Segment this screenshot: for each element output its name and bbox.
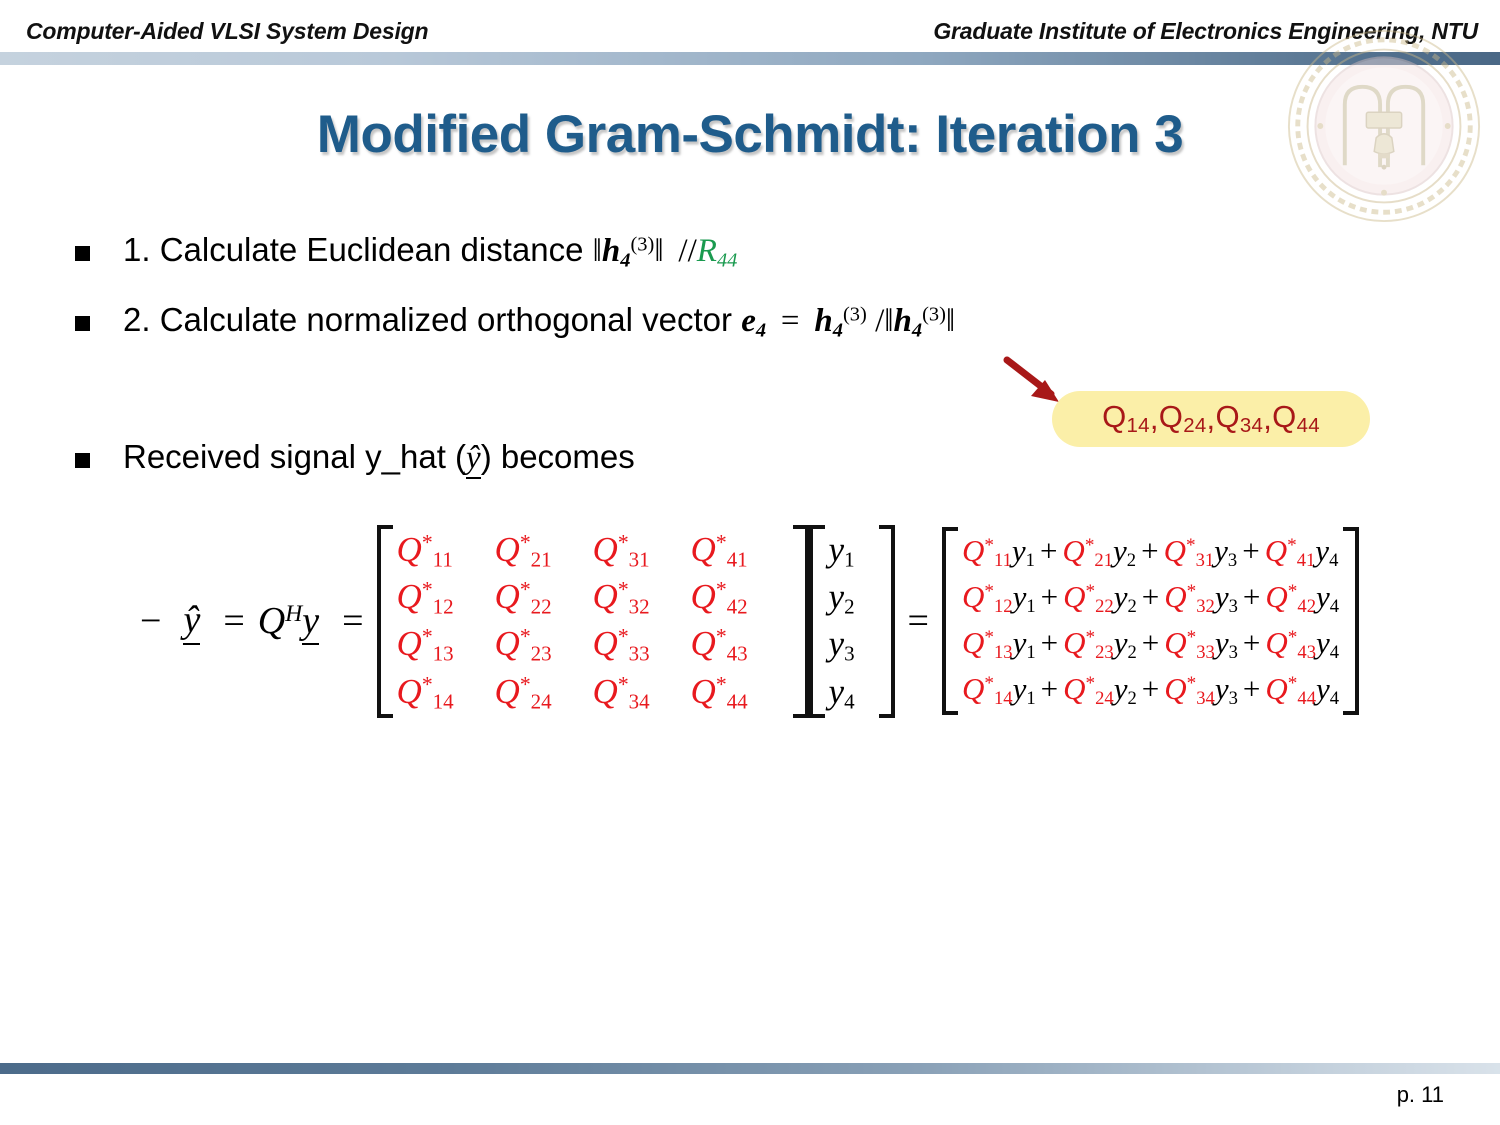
matrix-cell: Q*22 [495,574,593,621]
result-bracket-right [1343,527,1359,715]
result-cell: Q*12y1+Q*22y2+Q*32y3+Q*42y4 [962,575,1339,621]
matrix-cell: Q*33 [593,621,691,668]
matrix-cell: Q*31 [593,527,691,574]
matrix-row: Q*14 Q*24 Q*34 Q*44 [397,669,789,716]
bullet-item-2: 2. Calculate normalized orthogonal vecto… [75,303,955,342]
header-divider-bar [0,52,1500,65]
callout-sep-1: , [1150,401,1159,437]
matrix-cell: Q*42 [691,574,789,621]
vector-row: y1 [829,527,875,574]
page-title: Modified Gram-Schmidt: Iteration 3 [0,104,1500,165]
matrix-cell: Q*43 [691,621,789,668]
bullet-1-math: ‖h4(3)‖ //R44 [593,233,738,269]
square-bullet-icon [75,246,90,261]
result-column-vector: Q*11y1+Q*21y2+Q*31y3+Q*41y4 Q*12y1+Q*22y… [942,527,1359,715]
vector-row: y4 [829,669,875,716]
callout-sep-2: , [1207,401,1216,437]
callout-q14: Q14 [1102,399,1150,438]
square-bullet-icon [75,316,90,331]
callout-q-column: Q14, Q24, Q34, Q44 [1052,391,1370,447]
bullet-1-label: 1. Calculate Euclidean distance [123,231,583,268]
callout-sep-3: , [1263,401,1272,437]
bullet-item-3: Received signal y_hat (ŷ) becomes [75,440,635,476]
equation-equals-2: = [342,599,363,643]
result-row: Q*12y1+Q*22y2+Q*32y3+Q*42y4 [962,575,1339,621]
vector-cell: y3 [829,621,875,668]
callout-q44: Q44 [1272,399,1320,438]
result-cell: Q*13y1+Q*23y2+Q*33y3+Q*43y4 [962,621,1339,667]
bullet-2-label: 2. Calculate normalized orthogonal vecto… [123,301,732,338]
bullet-3-post: ) becomes [481,438,635,475]
callout-q24: Q24 [1159,399,1207,438]
matrix-cell: Q*13 [397,621,495,668]
result-bracket-left [942,527,958,715]
matrix-bracket-left [377,525,393,718]
matrix-cell: Q*12 [397,574,495,621]
matrix-row: Q*11 Q*21 Q*31 Q*41 [397,527,789,574]
matrix-cell: Q*34 [593,669,691,716]
matrix-cell: Q*23 [495,621,593,668]
matrix-cell: Q*32 [593,574,691,621]
equation-dash: − [140,599,161,643]
header-institute: Graduate Institute of Electronics Engine… [933,18,1478,45]
result-cell: Q*14y1+Q*24y2+Q*34y3+Q*44y4 [962,667,1339,713]
matrix-row: Q*12 Q*22 Q*32 Q*42 [397,574,789,621]
equation-equals-1: = [223,599,244,643]
result-cell: Q*11y1+Q*21y2+Q*31y3+Q*41y4 [962,529,1338,575]
matrix-cell: Q*44 [691,669,789,716]
vector-cell: y1 [829,527,875,574]
vector-bracket-right [879,525,895,718]
matrix-cell: Q*41 [691,527,789,574]
result-row: Q*11y1+Q*21y2+Q*31y3+Q*41y4 [962,529,1339,575]
matrix-cell: Q*14 [397,669,495,716]
header-course-title: Computer-Aided VLSI System Design [26,18,428,45]
bullet-2-math: e4 = h4(3) /‖h4(3)‖ [741,303,955,339]
result-row: Q*14y1+Q*24y2+Q*34y3+Q*44y4 [962,667,1339,713]
matrix-bracket-right [793,525,809,718]
bullet-3-text: Received signal y_hat (ŷ) becomes [123,440,635,476]
matrix-cell: Q*11 [397,527,495,574]
matrix-cell: Q*24 [495,669,593,716]
footer-divider-bar [0,1063,1500,1074]
vector-bracket-left [809,525,825,718]
matrix-equation: − ŷ = QHy = Q*11 Q*21 Q*31 Q*41 Q*12 Q*2… [140,525,1359,718]
bullet-1-text: 1. Calculate Euclidean distance ‖h4(3)‖ … [123,233,737,272]
bullet-item-1: 1. Calculate Euclidean distance ‖h4(3)‖ … [75,233,737,272]
equation-equals-3: = [908,599,929,643]
vector-cell: y4 [829,669,875,716]
bullet-2-text: 2. Calculate normalized orthogonal vecto… [123,303,955,342]
equation-qh: QHy [258,599,319,643]
q-hermitian-matrix: Q*11 Q*21 Q*31 Q*41 Q*12 Q*22 Q*32 Q*42 … [377,525,809,718]
square-bullet-icon [75,453,90,468]
vector-row: y3 [829,621,875,668]
callout-q34: Q34 [1215,399,1263,438]
matrix-cell: Q*21 [495,527,593,574]
bullet-3-yhat: ŷ [466,440,481,479]
equation-yhat: ŷ [183,598,200,645]
matrix-row: Q*13 Q*23 Q*33 Q*43 [397,621,789,668]
vector-row: y2 [829,574,875,621]
result-row: Q*13y1+Q*23y2+Q*33y3+Q*43y4 [962,621,1339,667]
vector-cell: y2 [829,574,875,621]
page-number: p. 11 [1397,1082,1444,1108]
bullet-3-pre: Received signal y_hat ( [123,438,466,475]
y-column-vector: y1 y2 y3 y4 [809,525,895,718]
